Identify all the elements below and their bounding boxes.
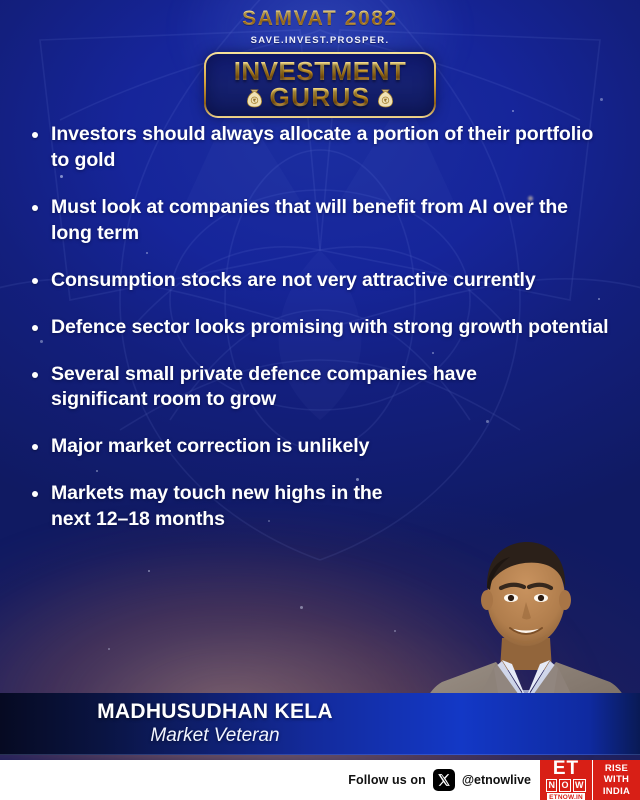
follow-us-label: Follow us on: [348, 773, 426, 787]
now-letter-w: W: [573, 779, 587, 792]
bullet-dot-icon: [32, 205, 38, 211]
bullet-dot-icon: [32, 325, 38, 331]
slogan-line-2: WITH: [604, 774, 629, 786]
list-item: Investors should always allocate a porti…: [26, 122, 612, 174]
footer-bar: Follow us on @etnowlive ET N O W ETNOW.I…: [0, 760, 640, 800]
now-letter-n: N: [546, 779, 558, 792]
etnow-logo[interactable]: ET N O W ETNOW.IN RISE WITH INDIA: [540, 760, 640, 800]
presenter-name-banner: MADHUSUDHAN KELA Market Veteran: [0, 693, 640, 755]
bullet-text: Defence sector looks promising with stro…: [51, 315, 609, 341]
list-item: Major market correction is unlikely: [26, 434, 612, 460]
money-bag-icon: ₹: [376, 86, 395, 108]
bullet-text: Several small private defence companies …: [51, 362, 551, 414]
presenter-role: Market Veteran: [0, 724, 430, 748]
bullet-dot-icon: [32, 132, 38, 138]
slogan-line-3: INDIA: [603, 786, 630, 798]
samvat-tagline: SAVE.INVEST.PROSPER.: [0, 35, 640, 46]
header: SAMVAT 2082 SAVE.INVEST.PROSPER. INVESTM…: [0, 8, 640, 118]
show-title-line1: INVESTMENT: [214, 59, 426, 84]
list-item: Markets may touch new highs in the next …: [26, 481, 612, 533]
etnow-url: ETNOW.IN: [547, 793, 585, 800]
bullet-dot-icon: [32, 444, 38, 450]
social-handle[interactable]: @etnowlive: [462, 773, 531, 787]
bullet-text: Major market correction is unlikely: [51, 434, 369, 460]
samvat-underline: [244, 32, 396, 34]
slogan-line-1: RISE: [605, 763, 628, 775]
list-item: Several small private defence companies …: [26, 362, 612, 414]
x-twitter-icon[interactable]: [433, 769, 455, 791]
bullet-text: Markets may touch new highs in the next …: [51, 481, 401, 533]
bullet-dot-icon: [32, 372, 38, 378]
samvat-title: SAMVAT 2082: [242, 8, 398, 30]
money-bag-icon: ₹: [245, 86, 264, 108]
bullet-text: Consumption stocks are not very attracti…: [51, 268, 536, 294]
bullet-text: Investors should always allocate a porti…: [51, 122, 609, 174]
investment-gurus-badge: INVESTMENT ₹ GURUS ₹: [204, 52, 436, 117]
etnow-logo-mark: ET N O W ETNOW.IN: [540, 760, 592, 800]
list-item: Defence sector looks promising with stro…: [26, 315, 612, 341]
now-text: N O W: [546, 779, 586, 792]
presenter-name: MADHUSUDHAN KELA: [0, 700, 430, 724]
investment-gurus-card: SAMVAT 2082 SAVE.INVEST.PROSPER. INVESTM…: [0, 0, 640, 800]
show-title-line2: GURUS: [270, 84, 371, 110]
bullet-dot-icon: [32, 491, 38, 497]
et-text: ET: [553, 760, 579, 778]
now-letter-o: O: [559, 779, 571, 792]
bullet-dot-icon: [32, 278, 38, 284]
bullet-text: Must look at companies that will benefit…: [51, 195, 609, 247]
list-item: Must look at companies that will benefit…: [26, 195, 612, 247]
bullet-list: Investors should always allocate a porti…: [26, 122, 612, 554]
list-item: Consumption stocks are not very attracti…: [26, 268, 612, 294]
etnow-slogan: RISE WITH INDIA: [592, 760, 640, 800]
